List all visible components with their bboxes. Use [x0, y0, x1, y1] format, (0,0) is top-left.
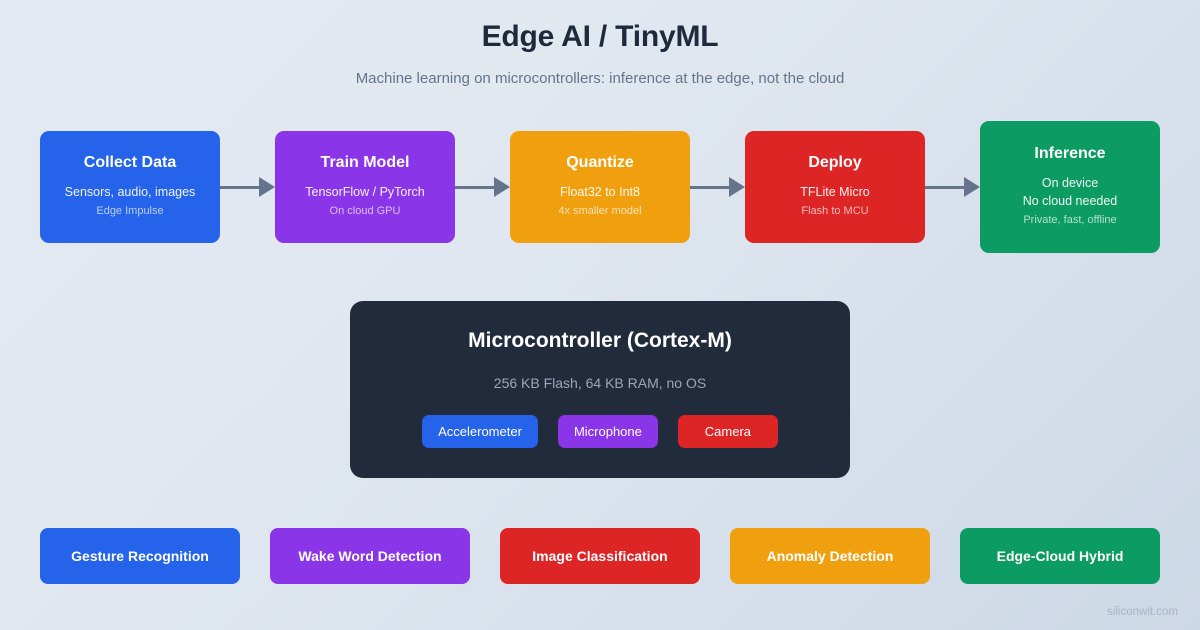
peripheral-chip-list: AccelerometerMicrophoneCamera: [380, 415, 820, 448]
peripheral-chip[interactable]: Camera: [678, 415, 778, 448]
arrow-right-icon: [220, 177, 275, 197]
pipeline-stage-collect-data[interactable]: Collect DataSensors, audio, imagesEdge I…: [40, 131, 220, 243]
arrow-head: [964, 177, 980, 197]
application-tag[interactable]: Wake Word Detection: [270, 528, 470, 584]
pipeline-stage-title: Deploy: [808, 154, 861, 172]
pipeline-stage-detail-tertiary: Private, fast, offline: [1023, 212, 1116, 230]
pipeline-stage-title: Collect Data: [84, 154, 176, 172]
pipeline-stage-deploy[interactable]: DeployTFLite MicroFlash to MCU: [745, 131, 925, 243]
arrow-shaft: [925, 186, 964, 189]
arrow-right-icon: [925, 177, 980, 197]
peripheral-chip[interactable]: Microphone: [558, 415, 658, 448]
application-tag[interactable]: Gesture Recognition: [40, 528, 240, 584]
pipeline-stage-title: Train Model: [321, 154, 410, 172]
pipeline-stage-quantize[interactable]: QuantizeFloat32 to Int84x smaller model: [510, 131, 690, 243]
microcontroller-title: Microcontroller (Cortex-M): [380, 329, 820, 353]
header: Edge AI / TinyML Machine learning on mic…: [0, 0, 1200, 87]
pipeline-stage-detail-secondary: No cloud needed: [1023, 192, 1118, 210]
page-subtitle: Machine learning on microcontrollers: in…: [0, 70, 1200, 87]
application-tag-list: Gesture RecognitionWake Word DetectionIm…: [0, 528, 1200, 584]
arrow-shaft: [690, 186, 729, 189]
pipeline-stage-detail-primary: On device: [1042, 174, 1098, 192]
microcontroller-section: Microcontroller (Cortex-M) 256 KB Flash,…: [0, 301, 1200, 478]
arrow-head: [494, 177, 510, 197]
pipeline-stage-inference[interactable]: InferenceOn deviceNo cloud neededPrivate…: [980, 121, 1160, 253]
pipeline-stage-detail-primary: Sensors, audio, images: [65, 183, 196, 201]
pipeline-stage-detail-primary: Float32 to Int8: [560, 183, 640, 201]
page-title: Edge AI / TinyML: [0, 20, 1200, 54]
pipeline-stage-detail-secondary: On cloud GPU: [330, 203, 401, 221]
microcontroller-panel: Microcontroller (Cortex-M) 256 KB Flash,…: [350, 301, 850, 478]
pipeline-stage-detail-secondary: Edge Impulse: [96, 203, 163, 221]
arrow-right-icon: [690, 177, 745, 197]
pipeline-stage-detail-primary: TFLite Micro: [800, 183, 869, 201]
pipeline-stage-title: Quantize: [566, 154, 634, 172]
pipeline-stage-detail-secondary: 4x smaller model: [558, 203, 641, 221]
application-tag[interactable]: Edge-Cloud Hybrid: [960, 528, 1160, 584]
pipeline-stage-title: Inference: [1034, 145, 1105, 163]
arrow-right-icon: [455, 177, 510, 197]
pipeline-stage-train-model[interactable]: Train ModelTensorFlow / PyTorchOn cloud …: [275, 131, 455, 243]
arrow-shaft: [455, 186, 494, 189]
application-tag[interactable]: Anomaly Detection: [730, 528, 930, 584]
peripheral-chip[interactable]: Accelerometer: [422, 415, 538, 448]
application-tag[interactable]: Image Classification: [500, 528, 700, 584]
pipeline-flow: Collect DataSensors, audio, imagesEdge I…: [0, 121, 1200, 253]
arrow-head: [259, 177, 275, 197]
arrow-head: [729, 177, 745, 197]
watermark: siliconwit.com: [1107, 606, 1178, 618]
pipeline-stage-detail-secondary: Flash to MCU: [801, 203, 868, 221]
microcontroller-spec: 256 KB Flash, 64 KB RAM, no OS: [380, 375, 820, 391]
arrow-shaft: [220, 186, 259, 189]
pipeline-stage-detail-primary: TensorFlow / PyTorch: [305, 183, 424, 201]
